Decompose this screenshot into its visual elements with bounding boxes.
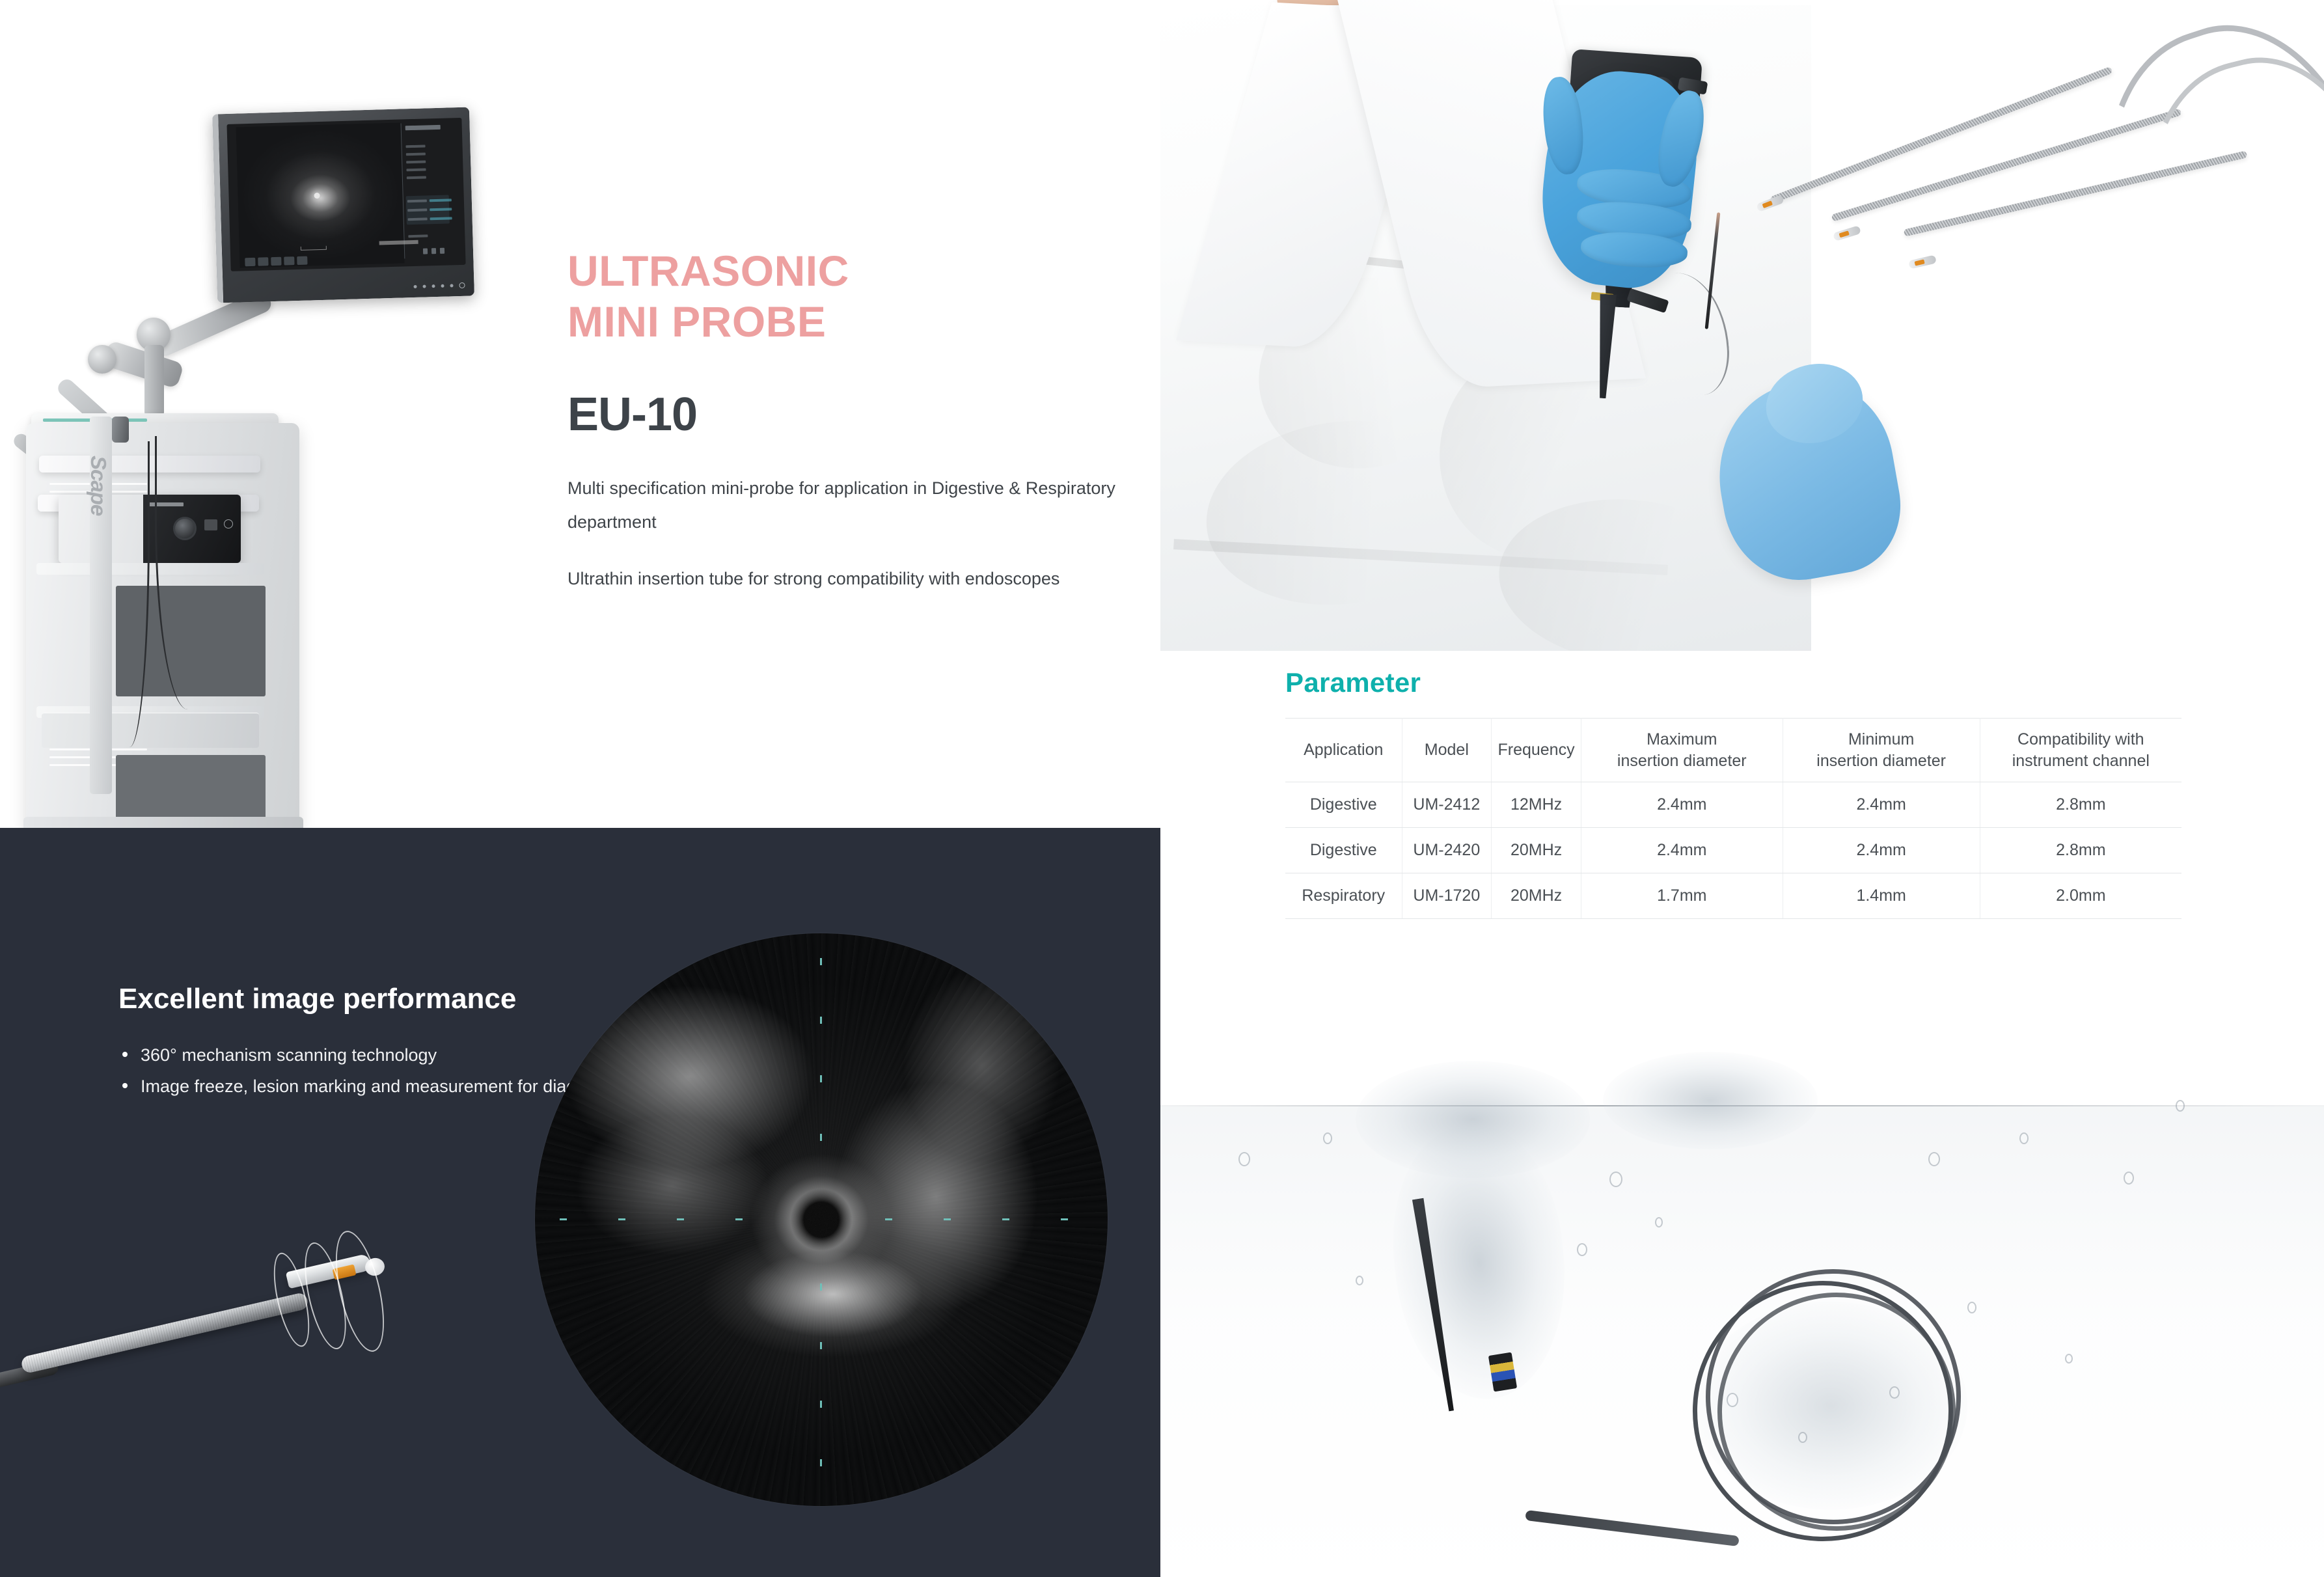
scan-tick-mark (944, 1218, 951, 1220)
mini-probe-transducer-tip (1756, 195, 1784, 212)
cart-drawer[interactable] (42, 713, 259, 748)
page-title: ULTRASONIC MINI PROBE (567, 246, 1127, 348)
hero-text-block: ULTRASONIC MINI PROBE EU-10 Multi specif… (567, 246, 1127, 596)
cell-application: Digestive (1285, 782, 1402, 828)
monitor-ui-row (405, 144, 425, 148)
scan-tick-mark (735, 1218, 743, 1220)
monitor-screen-button (258, 257, 268, 266)
monitor-screen-button (284, 256, 294, 265)
scan-tick-mark (820, 1283, 822, 1291)
scan-tick-mark (820, 1342, 822, 1349)
monitor-led (413, 285, 417, 288)
cell-model: UM-2412 (1402, 782, 1492, 828)
cart-tray (39, 456, 260, 473)
column-header-min-insertion-diameter: Minimum insertion diameter (1783, 719, 1980, 782)
monitor-led (450, 284, 453, 287)
bubble (1356, 1276, 1363, 1285)
cell-max-insertion-diameter: 2.4mm (1581, 828, 1783, 873)
cart-base (23, 817, 303, 828)
cell-instrument-channel: 2.0mm (1980, 873, 2181, 919)
column-header-max-insertion-diameter: Maximum insertion diameter (1581, 719, 1783, 782)
hero-description-1: Multi specification mini-probe for appli… (567, 471, 1127, 540)
monitor-ui-row (406, 160, 426, 163)
bubble (2176, 1100, 2185, 1112)
list-item: 360° mechanism scanning technology (118, 1039, 617, 1071)
cell-frequency: 20MHz (1492, 873, 1581, 919)
cell-min-insertion-diameter: 2.4mm (1783, 828, 1980, 873)
monitor-arm-post (144, 345, 164, 417)
bubble (1967, 1302, 1976, 1313)
scan-tick-mark (820, 1017, 822, 1024)
monitor-ui-row (406, 168, 426, 171)
parameter-section: Parameter Application Model Frequency (1160, 651, 2324, 950)
monitor-brand-logo (405, 125, 440, 131)
bubble (2124, 1172, 2134, 1185)
mini-probe-family (1694, 20, 2324, 384)
column-header-instrument-channel: Compatibility with instrument channel (1980, 719, 2181, 782)
hero-description-2: Ultrathin insertion tube for strong comp… (567, 562, 1127, 596)
cell-frequency: 12MHz (1492, 782, 1581, 828)
parameter-table: Application Model Frequency Maximum inse… (1285, 718, 2181, 919)
monitor-target-icon (431, 248, 435, 254)
bubble (1889, 1386, 1900, 1399)
column-header-application: Application (1285, 719, 1402, 782)
bubble (2019, 1132, 2029, 1144)
scan-tick-mark (677, 1218, 684, 1220)
bubble (1609, 1172, 1622, 1187)
scan-tick-mark (820, 1459, 822, 1466)
monitor-ui-row (406, 152, 426, 156)
bubble (2065, 1354, 2073, 1364)
cell-min-insertion-diameter: 2.4mm (1783, 782, 1980, 828)
scan-tick-mark (885, 1218, 892, 1220)
table-row: Respiratory UM-1720 20MHz 1.7mm 1.4mm 2.… (1285, 873, 2181, 919)
monitor-screen-button (245, 258, 255, 266)
monitor-scale-marker (301, 245, 327, 250)
cell-model: UM-1720 (1402, 873, 1492, 919)
monitor-ui-sidebar (400, 122, 463, 258)
monitor-ui-row (407, 176, 426, 179)
bubble (1577, 1243, 1587, 1256)
processor-display (204, 519, 217, 530)
mini-probe-transducer-tip (1908, 254, 1937, 269)
parameter-table-body: Digestive UM-2412 12MHz 2.4mm 2.4mm 2.8m… (1285, 782, 2181, 919)
monitor-button-row (245, 256, 307, 267)
page-title-line2: MINI PROBE (567, 297, 1127, 348)
monitor-ui-row (407, 208, 427, 212)
scan-tick-mark (618, 1218, 625, 1220)
parameter-heading: Parameter (1285, 667, 1421, 698)
column-header-frequency: Frequency (1492, 719, 1581, 782)
transducer-element (1839, 230, 1850, 238)
clinician-photo-section (1160, 0, 2324, 664)
cell-frequency: 20MHz (1492, 828, 1581, 873)
bubble (1655, 1217, 1663, 1227)
mini-probe-transducer-tip (1833, 225, 1861, 241)
brochure-page: Scape ULTRASONIC MINI PROBE EU-10 Multi … (0, 0, 2324, 1577)
transducer-element (1762, 200, 1773, 208)
bubble (1727, 1393, 1738, 1407)
monitor-screen-button (297, 256, 307, 265)
scan-tick-mark (1061, 1218, 1068, 1220)
guidewire-probe (1705, 212, 1721, 329)
monitor-led (422, 285, 426, 288)
cell-application: Digestive (1285, 828, 1402, 873)
cell-model: UM-2420 (1402, 828, 1492, 873)
monitor-screen-icon-row (422, 248, 444, 254)
bubble (1928, 1152, 1940, 1166)
bubble (1323, 1132, 1332, 1144)
probe-braided-shaft (20, 1292, 309, 1375)
scan-tick-mark (820, 1134, 822, 1141)
water-splash (1603, 1052, 1818, 1149)
transducer-element (1915, 259, 1925, 266)
page-title-line1: ULTRASONIC (567, 246, 1127, 297)
scan-tick-mark (560, 1218, 567, 1220)
scan-tick-mark (1002, 1218, 1009, 1220)
monitor-screen (226, 118, 465, 271)
cell-min-insertion-diameter: 1.4mm (1783, 873, 1980, 919)
table-row: Digestive UM-2420 20MHz 2.4mm 2.4mm 2.8m… (1285, 828, 2181, 873)
scan-tick-mark (820, 1401, 822, 1408)
cell-instrument-channel: 2.8mm (1980, 782, 2181, 828)
monitor-ui-row (407, 217, 427, 221)
bubble (1798, 1432, 1807, 1443)
list-item: Image freeze, lesion marking and measure… (118, 1071, 617, 1102)
endoscopy-cart-illustration: Scape (0, 39, 566, 828)
monitor-led (441, 284, 444, 288)
cell-application: Respiratory (1285, 873, 1402, 919)
ultrasound-monitor (212, 107, 474, 303)
parameter-table-header: Application Model Frequency Maximum inse… (1285, 719, 2181, 782)
image-performance-heading: Excellent image performance (118, 983, 516, 1015)
bubble (1238, 1152, 1250, 1166)
monitor-person-icon (439, 248, 444, 254)
cell-max-insertion-diameter: 2.4mm (1581, 782, 1783, 828)
ultrasound-scan-image (535, 933, 1108, 1506)
monitor-screen-button (271, 257, 281, 266)
monitor-led (431, 284, 435, 288)
column-header-model: Model (1402, 719, 1492, 782)
waterproof-test-photo (1160, 937, 2324, 1577)
scan-tick-mark (820, 1075, 822, 1082)
monitor-ui-row (407, 199, 427, 202)
scan-tick-mark (820, 958, 822, 965)
product-model-name: EU-10 (567, 388, 1127, 441)
image-performance-feature-list: 360° mechanism scanning technology Image… (118, 1039, 617, 1102)
scope-connector-head (112, 417, 129, 443)
hero-section: Scape ULTRASONIC MINI PROBE EU-10 Multi … (0, 0, 1160, 828)
monitor-power-icon[interactable] (459, 282, 465, 288)
cart-brand-logo: Scape (91, 456, 111, 566)
monitor-arm-joint-lower (88, 345, 116, 374)
cell-instrument-channel: 2.8mm (1980, 828, 2181, 873)
processor-power-icon[interactable] (224, 519, 233, 528)
cell-max-insertion-diameter: 1.7mm (1581, 873, 1783, 919)
monitor-pencil-icon (422, 248, 427, 254)
monitor-ui-row (408, 234, 428, 238)
table-row: Digestive UM-2412 12MHz 2.4mm 2.4mm 2.8m… (1285, 782, 2181, 828)
probe-tip-illustration (13, 1201, 547, 1461)
table-header-row: Application Model Frequency Maximum inse… (1285, 719, 2181, 782)
cart-shelf (36, 563, 264, 575)
